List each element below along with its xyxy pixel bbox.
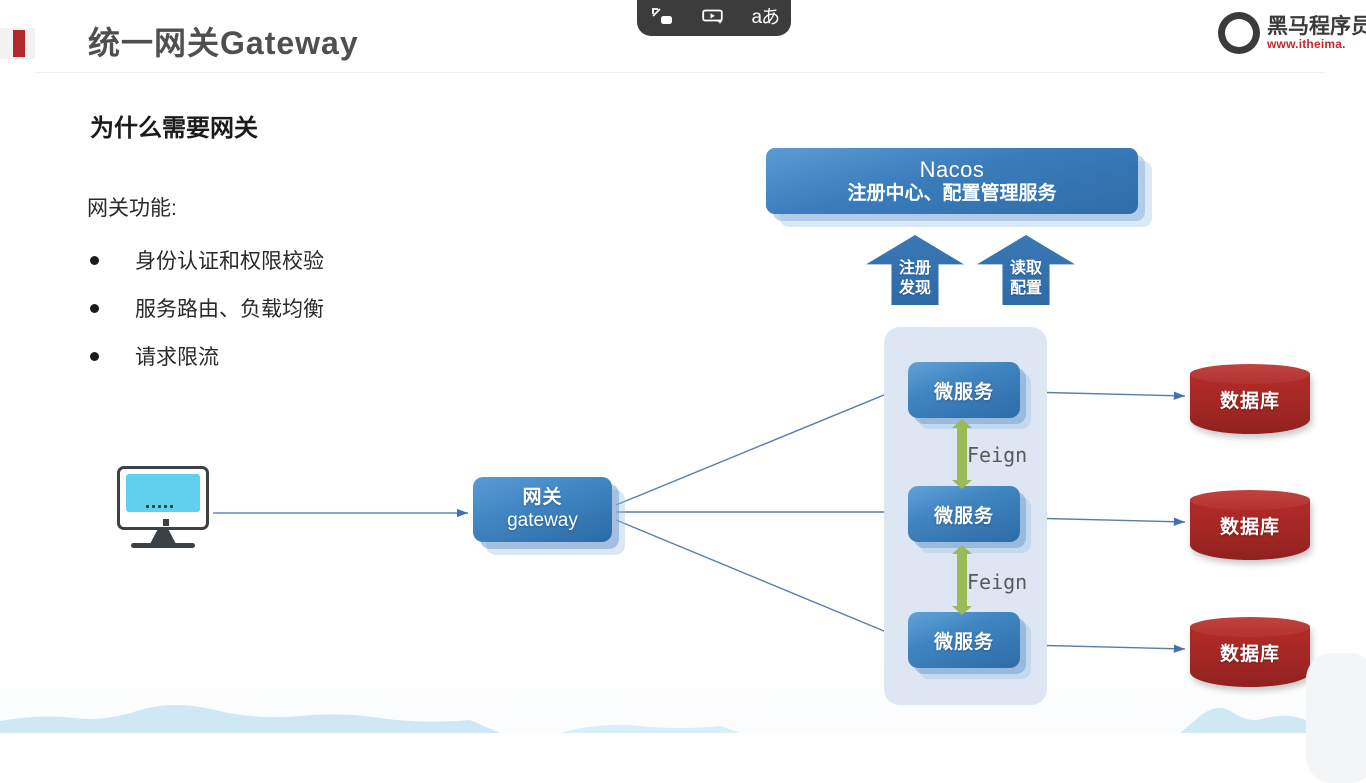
gateway-title: 网关 bbox=[522, 486, 562, 509]
monitor-dots bbox=[146, 505, 173, 508]
nacos-title: Nacos bbox=[766, 157, 1138, 182]
architecture-diagram: Nacos 注册中心、配置管理服务 注册发现 读取配置 微服务 微服务 微服务 … bbox=[0, 0, 1366, 733]
bottom-decoration bbox=[0, 688, 1366, 733]
database-node: 数据库 bbox=[1190, 490, 1310, 560]
picture-in-picture-icon[interactable] bbox=[643, 2, 683, 32]
monitor-power-icon bbox=[163, 519, 169, 526]
nacos-subtitle: 注册中心、配置管理服务 bbox=[766, 182, 1138, 206]
feign-label: Feign bbox=[967, 443, 1027, 467]
database-label: 数据库 bbox=[1190, 386, 1310, 413]
diagram-connectors bbox=[0, 0, 1366, 733]
monitor-stand bbox=[150, 530, 176, 544]
translate-label: aあ bbox=[752, 8, 780, 27]
monitor-frame bbox=[117, 466, 209, 530]
register-discover-arrow-icon: 注册发现 bbox=[866, 235, 964, 305]
read-config-arrow-icon: 读取配置 bbox=[977, 235, 1075, 305]
database-label: 数据库 bbox=[1190, 512, 1310, 539]
mountain-silhouette-icon bbox=[0, 688, 1366, 733]
arrow-label: 注册发现 bbox=[899, 259, 931, 299]
db-cylinder-top bbox=[1190, 364, 1310, 384]
microservice-node: 微服务 bbox=[908, 486, 1020, 542]
database-node: 数据库 bbox=[1190, 617, 1310, 687]
slide-canvas: 统一网关Gateway 黑马程序员 www.itheima. bbox=[0, 0, 1366, 733]
db-cylinder-top bbox=[1190, 490, 1310, 510]
floating-toolbar[interactable]: aあ bbox=[637, 0, 791, 36]
microservice-node: 微服务 bbox=[908, 612, 1020, 668]
monitor-base bbox=[131, 543, 195, 548]
gateway-node: 网关 gateway bbox=[473, 477, 612, 542]
desktop-monitor-icon bbox=[117, 466, 209, 556]
feign-double-arrow-icon bbox=[957, 427, 967, 481]
gateway-subtitle: gateway bbox=[507, 509, 578, 533]
microservice-node: 微服务 bbox=[908, 362, 1020, 418]
nacos-node: Nacos 注册中心、配置管理服务 bbox=[766, 148, 1138, 214]
db-cylinder-top bbox=[1190, 617, 1310, 637]
video-magic-icon[interactable] bbox=[694, 2, 734, 32]
feign-label: Feign bbox=[967, 570, 1027, 594]
feign-double-arrow-icon bbox=[957, 553, 967, 607]
database-node: 数据库 bbox=[1190, 364, 1310, 434]
corner-rounded-shape bbox=[1306, 653, 1366, 783]
translate-icon[interactable]: aあ bbox=[745, 2, 785, 32]
database-label: 数据库 bbox=[1190, 639, 1310, 666]
arrow-label: 读取配置 bbox=[1010, 259, 1042, 299]
